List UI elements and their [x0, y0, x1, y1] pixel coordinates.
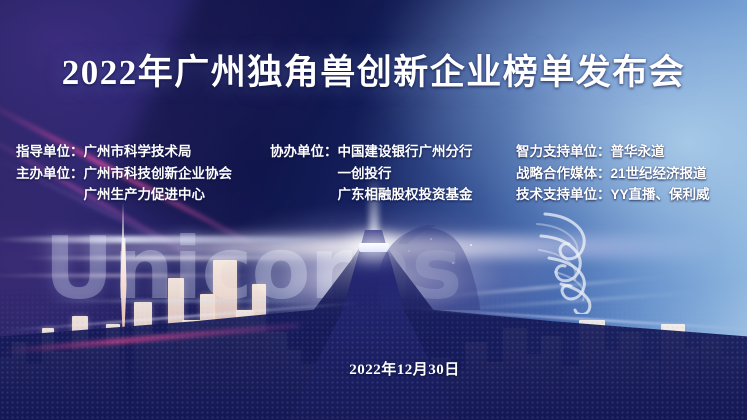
- credit-line: 协办单位： 一创投行: [270, 163, 508, 185]
- unicorn-head-silhouette: [372, 214, 492, 310]
- credit-value: 一创投行: [338, 163, 392, 185]
- credits-column-middle: 协办单位： 中国建设银行广州分行 协办单位： 一创投行 协办单位： 广东相融股权…: [270, 141, 508, 206]
- credit-value: 广东相融股权投资基金: [338, 184, 473, 206]
- credits-column-right: 智力支持单位： 普华永道 战略合作媒体： 21世纪经济报道 技术支持单位： YY…: [516, 141, 744, 206]
- credit-value: 普华永道: [611, 141, 665, 163]
- credits-column-left: 指导单位： 广州市科学技术局 主办单位： 广州市科技创新企业协会 主办单位： 广…: [16, 141, 264, 206]
- credit-label: 主办单位：: [16, 163, 84, 185]
- credit-value: YY直播、保利威: [611, 184, 710, 206]
- credit-line: 战略合作媒体： 21世纪经济报道: [516, 163, 744, 185]
- credit-line: 技术支持单位： YY直播、保利威: [516, 184, 744, 206]
- light-trail: [20, 256, 320, 260]
- page-title: 2022年广州独角兽创新企业榜单发布会: [0, 44, 747, 95]
- credit-label: 协办单位：: [270, 141, 338, 163]
- credit-line: 智力支持单位： 普华永道: [516, 141, 744, 163]
- light-trail: [0, 274, 250, 277]
- credit-value: 21世纪经济报道: [611, 163, 707, 185]
- credit-value: 中国建设银行广州分行: [338, 141, 473, 163]
- credits-block: 指导单位： 广州市科学技术局 主办单位： 广州市科技创新企业协会 主办单位： 广…: [0, 141, 747, 206]
- credit-value: 广州市科学技术局: [84, 141, 192, 163]
- credit-value: 广州生产力促进中心: [84, 184, 206, 206]
- event-poster: Unicorns: [0, 0, 747, 420]
- flowing-mane-swirls: [531, 206, 661, 314]
- credit-line: 协办单位： 中国建设银行广州分行: [270, 141, 508, 163]
- credit-value: 广州市科技创新企业协会: [84, 163, 233, 185]
- credit-label: 指导单位：: [16, 141, 84, 163]
- credit-line: 指导单位： 广州市科学技术局: [16, 141, 264, 163]
- credit-label: 智力支持单位：: [516, 141, 611, 163]
- credit-label: 技术支持单位：: [516, 184, 611, 206]
- credit-line: 主办单位： 广州市科技创新企业协会: [16, 163, 264, 185]
- light-trail: [0, 236, 320, 243]
- event-date: 2022年12月30日: [0, 358, 747, 379]
- credit-line: 协办单位： 广东相融股权投资基金: [270, 184, 508, 206]
- credit-line: 主办单位： 广州生产力促进中心: [16, 184, 264, 206]
- credit-label: 战略合作媒体：: [516, 163, 611, 185]
